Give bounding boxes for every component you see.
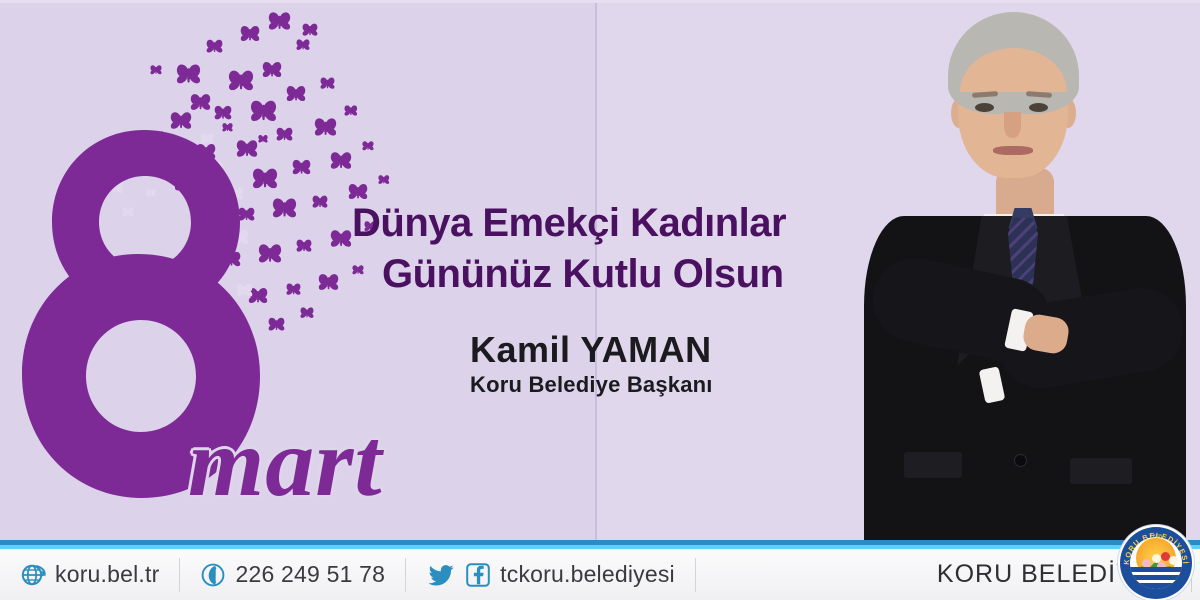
footer-website-text: koru.bel.tr: [55, 561, 159, 588]
eye-left: [975, 103, 994, 112]
nose: [1004, 112, 1021, 138]
headline-block: Dünya Emekçi Kadınlar Gününüz Kutlu Olsu…: [352, 198, 872, 300]
footer-contact-group: koru.bel.tr 226 249 51 78: [0, 549, 696, 600]
facebook-icon[interactable]: [465, 562, 491, 588]
seal-year-text: 1898: [1150, 534, 1163, 540]
jacket-pocket-right: [1070, 458, 1132, 484]
municipality-seal-logo: KORU BELEDİYESİ 1898: [1118, 525, 1194, 600]
mart-text: mart: [188, 409, 383, 517]
person-title: Koru Belediye Başkanı: [470, 372, 890, 398]
globe-icon: [20, 562, 46, 588]
footer-phone-text: 226 249 51 78: [235, 561, 385, 588]
footer-phone-item[interactable]: 226 249 51 78: [180, 558, 405, 592]
hair: [948, 12, 1079, 114]
twitter-icon[interactable]: [426, 562, 456, 588]
banner-canvas: mart Dünya Emekçi Kadınlar Gününüz Kutlu…: [0, 0, 1200, 600]
headline-line-1: Dünya Emekçi Kadınlar: [352, 201, 786, 245]
footer-social-text: tckoru.belediyesi: [500, 561, 675, 588]
signature-block: Kamil YAMAN Koru Belediye Başkanı: [470, 330, 890, 398]
footer-separator-band: [0, 540, 1200, 549]
footer-website-item[interactable]: koru.bel.tr: [0, 558, 179, 592]
mart-wordmark: mart: [188, 414, 383, 512]
headline-line-2: Gününüz Kutlu Olsun: [352, 249, 872, 300]
mouth: [993, 146, 1033, 155]
mayor-portrait-photo: [848, 0, 1200, 542]
phone-icon: [200, 562, 226, 588]
eye-right: [1029, 103, 1048, 112]
person-name: Kamil YAMAN: [470, 330, 890, 370]
footer-bar: koru.bel.tr 226 249 51 78: [0, 549, 1200, 600]
footer-divider: [695, 558, 696, 592]
jacket-button: [1014, 454, 1027, 467]
jacket-pocket-left: [904, 452, 962, 478]
footer-social-item[interactable]: tckoru.belediyesi: [406, 558, 695, 592]
